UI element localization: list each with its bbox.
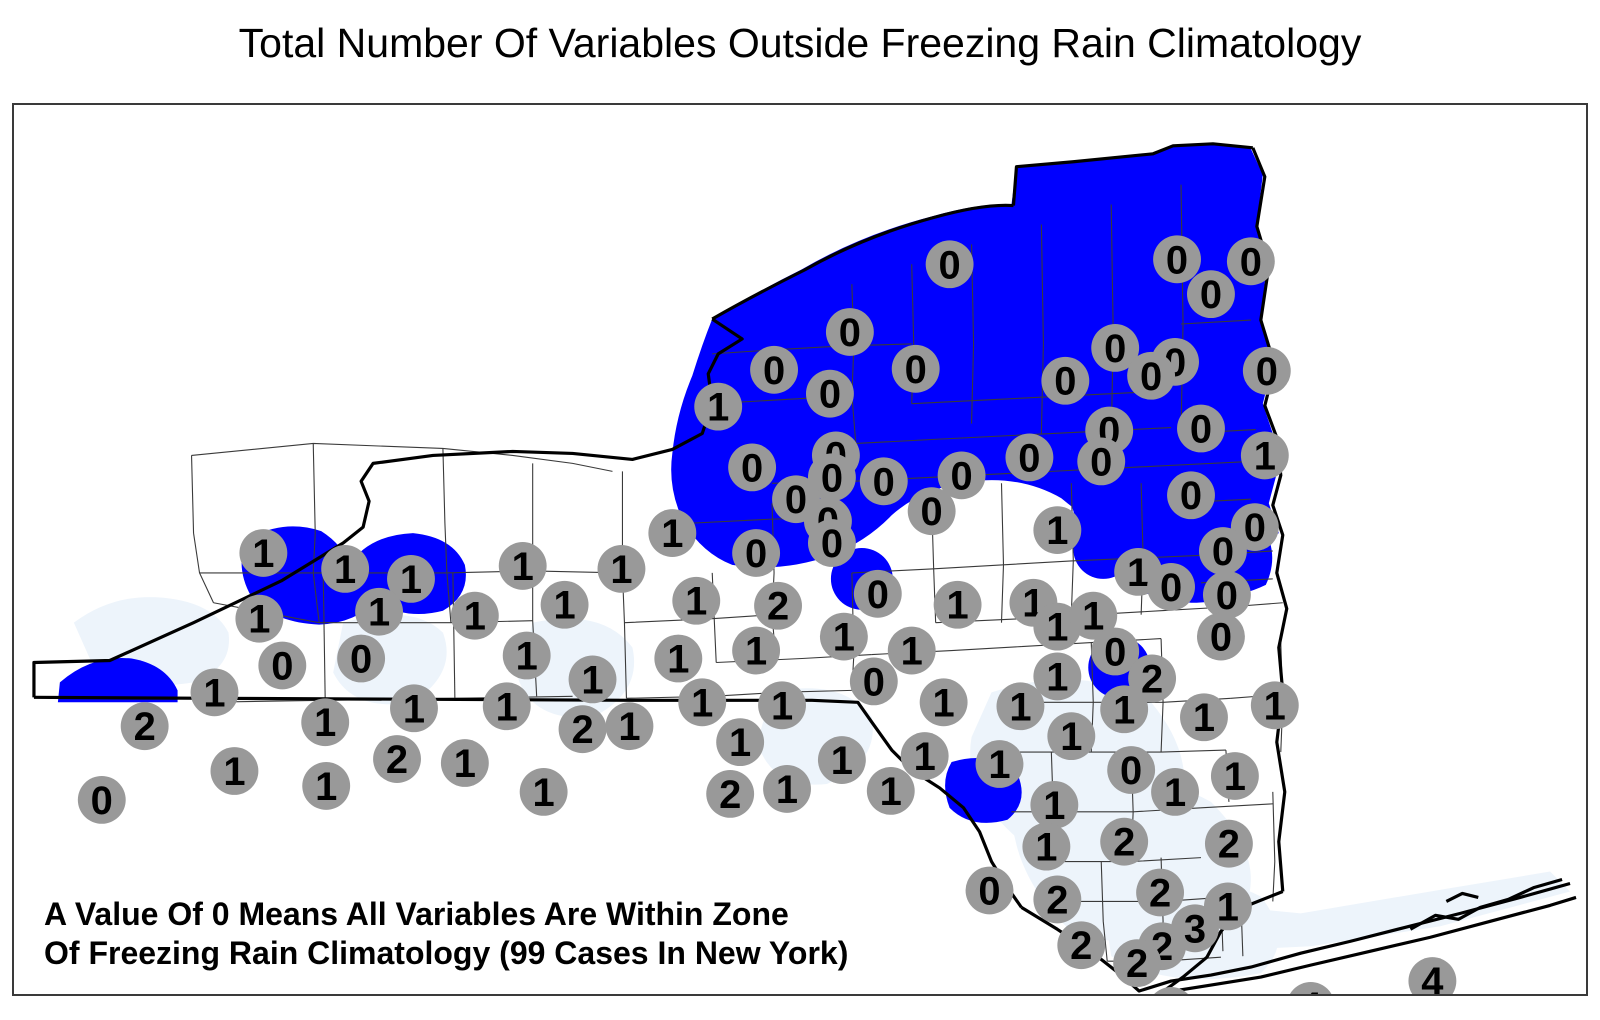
station-marker-value: 2 bbox=[1113, 821, 1135, 865]
station-marker-value: 1 bbox=[315, 765, 337, 809]
station-marker[interactable]: 0 bbox=[1127, 352, 1175, 400]
station-marker-value: 1 bbox=[512, 545, 534, 589]
station-marker-value: 1 bbox=[368, 591, 390, 635]
station-marker[interactable]: 1 bbox=[483, 682, 531, 730]
station-marker-value: 3 bbox=[1184, 907, 1206, 951]
station-marker-value: 1 bbox=[223, 750, 245, 794]
station-marker-value: 1 bbox=[581, 658, 603, 702]
station-marker-value: 0 bbox=[1054, 360, 1076, 404]
station-marker[interactable]: 1 bbox=[1022, 823, 1070, 871]
station-marker-value: 2 bbox=[1070, 924, 1092, 968]
station-marker[interactable]: 1 bbox=[1033, 506, 1081, 554]
station-marker[interactable]: 1 bbox=[520, 768, 568, 816]
page-title: Total Number Of Variables Outside Freezi… bbox=[0, 20, 1600, 67]
station-marker-value: 2 bbox=[1046, 878, 1068, 922]
station-marker[interactable]: 1 bbox=[1180, 693, 1228, 741]
station-marker-value: 1 bbox=[610, 548, 632, 592]
station-marker-value: 1 bbox=[496, 685, 518, 729]
station-marker[interactable]: 1 bbox=[934, 581, 982, 629]
station-marker-value: 1 bbox=[880, 770, 902, 814]
station-marker[interactable]: 2 bbox=[1113, 939, 1161, 987]
station-marker-value: 2 bbox=[134, 705, 156, 749]
station-marker[interactable]: 1 bbox=[820, 613, 868, 661]
station-marker[interactable]: 1 bbox=[648, 509, 696, 557]
station-marker-value: 0 bbox=[763, 349, 785, 393]
station-marker-value: 0 bbox=[921, 490, 943, 534]
station-marker-value: 1 bbox=[776, 768, 798, 812]
station-marker-value: 1 bbox=[771, 684, 793, 728]
station-marker[interactable]: 1 bbox=[716, 718, 764, 766]
station-marker-value: 0 bbox=[1120, 749, 1142, 793]
station-marker-value: 1 bbox=[1046, 509, 1068, 553]
station-marker[interactable]: 0 bbox=[1197, 613, 1245, 661]
station-marker-value: 0 bbox=[978, 869, 1000, 913]
station-marker[interactable]: 1 bbox=[1151, 768, 1199, 816]
station-marker-value: 2 bbox=[719, 773, 741, 817]
station-marker[interactable]: 1 bbox=[1241, 432, 1289, 480]
station-marker[interactable]: 1 bbox=[569, 656, 617, 704]
station-marker-value: 1 bbox=[933, 681, 955, 725]
station-marker[interactable]: 0 bbox=[1243, 347, 1291, 395]
station-marker-value: 0 bbox=[1240, 240, 1262, 284]
station-marker[interactable]: 2 bbox=[1033, 876, 1081, 924]
station-marker-value: 0 bbox=[939, 243, 961, 287]
station-marker[interactable]: 0 bbox=[850, 658, 898, 706]
station-marker[interactable]: 1 bbox=[1030, 781, 1078, 829]
station-marker-value: 0 bbox=[1190, 408, 1212, 452]
station-marker-value: 1 bbox=[1264, 684, 1286, 728]
station-marker[interactable]: 1 bbox=[302, 762, 350, 810]
map-panel: 0000001000000000100000000000010010111111… bbox=[12, 103, 1588, 996]
station-marker-value: 0 bbox=[1212, 530, 1234, 574]
note-line-2: Of Freezing Rain Climatology (99 Cases I… bbox=[44, 935, 848, 971]
station-marker-value: 1 bbox=[314, 701, 336, 745]
station-marker-value: 0 bbox=[905, 348, 927, 392]
station-marker-value: 0 bbox=[873, 460, 895, 504]
station-marker[interactable]: 2 bbox=[1100, 818, 1148, 866]
station-marker-value: 0 bbox=[867, 573, 889, 617]
station-marker-value: 0 bbox=[1090, 440, 1112, 484]
station-marker-value: 1 bbox=[403, 687, 425, 731]
station-marker[interactable]: 0 bbox=[1041, 357, 1089, 405]
station-marker[interactable]: 0 bbox=[1203, 571, 1251, 619]
station-marker[interactable]: 0 bbox=[1167, 471, 1215, 519]
station-marker-value: 0 bbox=[839, 311, 861, 355]
station-marker-value: 4 bbox=[1421, 960, 1443, 994]
station-marker-value: 0 bbox=[1210, 616, 1232, 660]
station-marker[interactable]: 0 bbox=[728, 443, 776, 491]
station-marker-value: 0 bbox=[821, 522, 843, 566]
station-marker-value: 2 bbox=[1218, 823, 1240, 867]
station-marker-value: 2 bbox=[571, 708, 593, 752]
station-marker-value: 1 bbox=[1254, 434, 1276, 478]
station-marker-value: 4 bbox=[1160, 990, 1182, 994]
station-marker-value: 0 bbox=[821, 456, 843, 500]
station-marker-value: 1 bbox=[707, 386, 729, 430]
station-marker[interactable]: 0 bbox=[966, 867, 1014, 915]
station-marker[interactable]: 1 bbox=[390, 684, 438, 732]
station-marker[interactable]: 4 bbox=[1287, 982, 1335, 994]
station-marker[interactable]: 2 bbox=[706, 770, 754, 818]
station-marker-value: 0 bbox=[1216, 574, 1238, 618]
station-marker-value: 1 bbox=[729, 721, 751, 765]
station-marker[interactable]: 1 bbox=[1211, 752, 1259, 800]
station-marker[interactable]: 0 bbox=[258, 642, 306, 690]
station-marker-value: 4 bbox=[1300, 985, 1322, 994]
station-marker-value: 1 bbox=[1046, 655, 1068, 699]
station-marker[interactable]: 2 bbox=[1057, 921, 1105, 969]
station-marker-value: 0 bbox=[1104, 327, 1126, 371]
station-marker-value: 2 bbox=[767, 585, 789, 629]
station-marker-value: 1 bbox=[988, 743, 1010, 787]
station-marker-value: 1 bbox=[901, 630, 923, 674]
station-marker[interactable]: 1 bbox=[211, 747, 259, 795]
station-marker-value: 0 bbox=[741, 446, 763, 490]
station-marker[interactable]: 1 bbox=[672, 577, 720, 625]
station-marker[interactable]: 1 bbox=[503, 632, 551, 680]
station-marker[interactable]: 1 bbox=[901, 732, 949, 780]
station-marker[interactable]: 1 bbox=[1047, 712, 1095, 760]
station-marker[interactable]: 0 bbox=[1177, 405, 1225, 453]
station-marker[interactable]: 0 bbox=[750, 346, 798, 394]
station-marker[interactable]: 1 bbox=[321, 545, 369, 593]
station-marker[interactable]: 2 bbox=[373, 735, 421, 783]
station-marker[interactable]: 0 bbox=[337, 635, 385, 683]
station-marker[interactable]: 1 bbox=[451, 592, 499, 640]
station-marker[interactable]: 1 bbox=[1033, 653, 1081, 701]
station-marker[interactable]: 1 bbox=[920, 678, 968, 726]
station-marker-value: 2 bbox=[1141, 657, 1163, 701]
station-marker[interactable]: 0 bbox=[860, 457, 908, 505]
station-marker[interactable]: 1 bbox=[888, 627, 936, 675]
station-marker-value: 0 bbox=[1166, 238, 1188, 282]
station-marker-value: 1 bbox=[248, 598, 270, 642]
station-marker-value: 0 bbox=[1180, 474, 1202, 518]
station-marker[interactable]: 0 bbox=[1153, 235, 1201, 283]
station-marker-value: 0 bbox=[745, 532, 767, 576]
station-marker[interactable]: 1 bbox=[441, 739, 489, 787]
station-marker[interactable]: 1 bbox=[191, 668, 239, 716]
station-marker[interactable]: 1 bbox=[1204, 883, 1252, 931]
station-marker-value: 0 bbox=[271, 644, 293, 688]
station-marker-value: 0 bbox=[950, 454, 972, 498]
station-marker[interactable]: 1 bbox=[598, 545, 646, 593]
station-marker[interactable]: 1 bbox=[499, 542, 547, 590]
new-york-choropleth-map: 0000001000000000100000000000010010111111… bbox=[14, 105, 1586, 994]
station-marker-value: 1 bbox=[947, 584, 969, 628]
station-marker[interactable]: 0 bbox=[806, 370, 854, 418]
station-marker-value: 0 bbox=[1200, 273, 1222, 317]
station-marker-value: 1 bbox=[833, 616, 855, 660]
station-marker[interactable]: 0 bbox=[892, 345, 940, 393]
station-marker[interactable]: 2 bbox=[754, 582, 802, 630]
station-marker[interactable]: 1 bbox=[678, 678, 726, 726]
station-marker-value: 0 bbox=[819, 373, 841, 417]
station-marker-value: 1 bbox=[914, 735, 936, 779]
station-marker-value: 1 bbox=[745, 630, 767, 674]
station-marker-value: 2 bbox=[1126, 942, 1148, 986]
station-marker-value: 1 bbox=[400, 558, 422, 602]
station-marker[interactable]: 0 bbox=[732, 529, 780, 577]
station-marker-value: 0 bbox=[863, 660, 885, 704]
station-marker[interactable]: 0 bbox=[1077, 438, 1125, 486]
station-marker[interactable]: 1 bbox=[694, 383, 742, 431]
station-marker-value: 1 bbox=[1035, 826, 1057, 870]
station-marker[interactable]: 1 bbox=[541, 581, 589, 629]
station-marker[interactable]: 1 bbox=[239, 529, 287, 577]
note-line-1: A Value Of 0 Means All Variables Are Wit… bbox=[44, 896, 789, 932]
station-marker-value: 1 bbox=[454, 742, 476, 786]
station-marker-value: 1 bbox=[1046, 606, 1068, 650]
station-marker-value: 1 bbox=[618, 705, 640, 749]
station-marker-value: 1 bbox=[1060, 715, 1082, 759]
station-marker[interactable]: 0 bbox=[1187, 270, 1235, 318]
station-marker-value: 1 bbox=[685, 580, 707, 624]
station-marker-value: 1 bbox=[667, 638, 689, 682]
station-marker-value: 0 bbox=[1018, 436, 1040, 480]
station-marker-value: 0 bbox=[1256, 350, 1278, 394]
station-marker[interactable]: 1 bbox=[301, 698, 349, 746]
station-marker-value: 0 bbox=[1140, 355, 1162, 399]
station-marker-value: 1 bbox=[1217, 885, 1239, 929]
station-marker[interactable]: 2 bbox=[1136, 869, 1184, 917]
station-marker-value: 0 bbox=[1160, 566, 1182, 610]
station-marker[interactable]: 1 bbox=[763, 765, 811, 813]
station-marker-value: 2 bbox=[1149, 871, 1171, 915]
station-marker-value: 2 bbox=[386, 738, 408, 782]
station-marker[interactable]: 0 bbox=[926, 240, 974, 288]
station-marker-value: 1 bbox=[1164, 771, 1186, 815]
station-marker-value: 1 bbox=[203, 671, 225, 715]
station-marker[interactable]: 1 bbox=[758, 681, 806, 729]
station-marker[interactable]: 0 bbox=[1147, 563, 1195, 611]
station-marker[interactable]: 0 bbox=[1227, 237, 1275, 285]
station-marker-value: 1 bbox=[516, 635, 538, 679]
station-marker[interactable]: 0 bbox=[1199, 527, 1247, 575]
station-marker[interactable]: 0 bbox=[1005, 434, 1053, 482]
station-marker[interactable]: 2 bbox=[1205, 820, 1253, 868]
station-marker[interactable]: 1 bbox=[1251, 681, 1299, 729]
station-marker-value: 1 bbox=[252, 532, 274, 576]
station-marker[interactable]: 0 bbox=[808, 519, 856, 567]
station-marker-value: 0 bbox=[1104, 631, 1126, 675]
station-marker-value: 1 bbox=[1224, 755, 1246, 799]
station-marker[interactable]: 2 bbox=[121, 702, 169, 750]
station-marker[interactable]: 0 bbox=[1107, 746, 1155, 794]
station-marker[interactable]: 0 bbox=[78, 776, 126, 824]
station-marker-value: 1 bbox=[334, 548, 356, 592]
station-marker-value: 1 bbox=[831, 739, 853, 783]
station-marker-value: 1 bbox=[661, 512, 683, 556]
station-marker[interactable]: 1 bbox=[732, 627, 780, 675]
station-marker[interactable]: 1 bbox=[976, 740, 1024, 788]
station-marker[interactable]: 1 bbox=[654, 635, 702, 683]
station-marker[interactable]: 0 bbox=[908, 487, 956, 535]
station-marker[interactable]: 1 bbox=[997, 682, 1045, 730]
station-marker-value: 1 bbox=[533, 771, 555, 815]
station-marker-value: 1 bbox=[554, 584, 576, 628]
station-marker-value: 1 bbox=[464, 595, 486, 639]
station-marker[interactable]: 0 bbox=[826, 308, 874, 356]
station-marker-value: 1 bbox=[1193, 696, 1215, 740]
explanatory-note: A Value Of 0 Means All Variables Are Wit… bbox=[44, 895, 848, 973]
station-marker-value: 1 bbox=[1043, 784, 1065, 828]
station-marker-value: 1 bbox=[1082, 595, 1104, 639]
station-marker-value: 1 bbox=[1009, 685, 1031, 729]
station-marker[interactable]: 1 bbox=[605, 702, 653, 750]
figure-root: Total Number Of Variables Outside Freezi… bbox=[0, 0, 1600, 1020]
station-marker-value: 1 bbox=[1127, 551, 1149, 595]
station-marker-value: 0 bbox=[91, 779, 113, 823]
station-marker-value: 0 bbox=[1244, 506, 1266, 550]
station-marker[interactable]: 2 bbox=[559, 705, 607, 753]
station-marker-value: 0 bbox=[350, 638, 372, 682]
station-marker[interactable]: 1 bbox=[818, 736, 866, 784]
station-marker[interactable]: 4 bbox=[1408, 957, 1456, 994]
station-marker[interactable]: 1 bbox=[235, 595, 283, 643]
station-marker[interactable]: 1 bbox=[867, 767, 915, 815]
station-marker[interactable]: 1 bbox=[355, 588, 403, 636]
station-marker-value: 1 bbox=[1113, 688, 1135, 732]
station-marker[interactable]: 1 bbox=[1100, 685, 1148, 733]
station-marker-value: 1 bbox=[691, 681, 713, 725]
station-marker-value: 0 bbox=[785, 478, 807, 522]
station-marker[interactable]: 0 bbox=[854, 570, 902, 618]
